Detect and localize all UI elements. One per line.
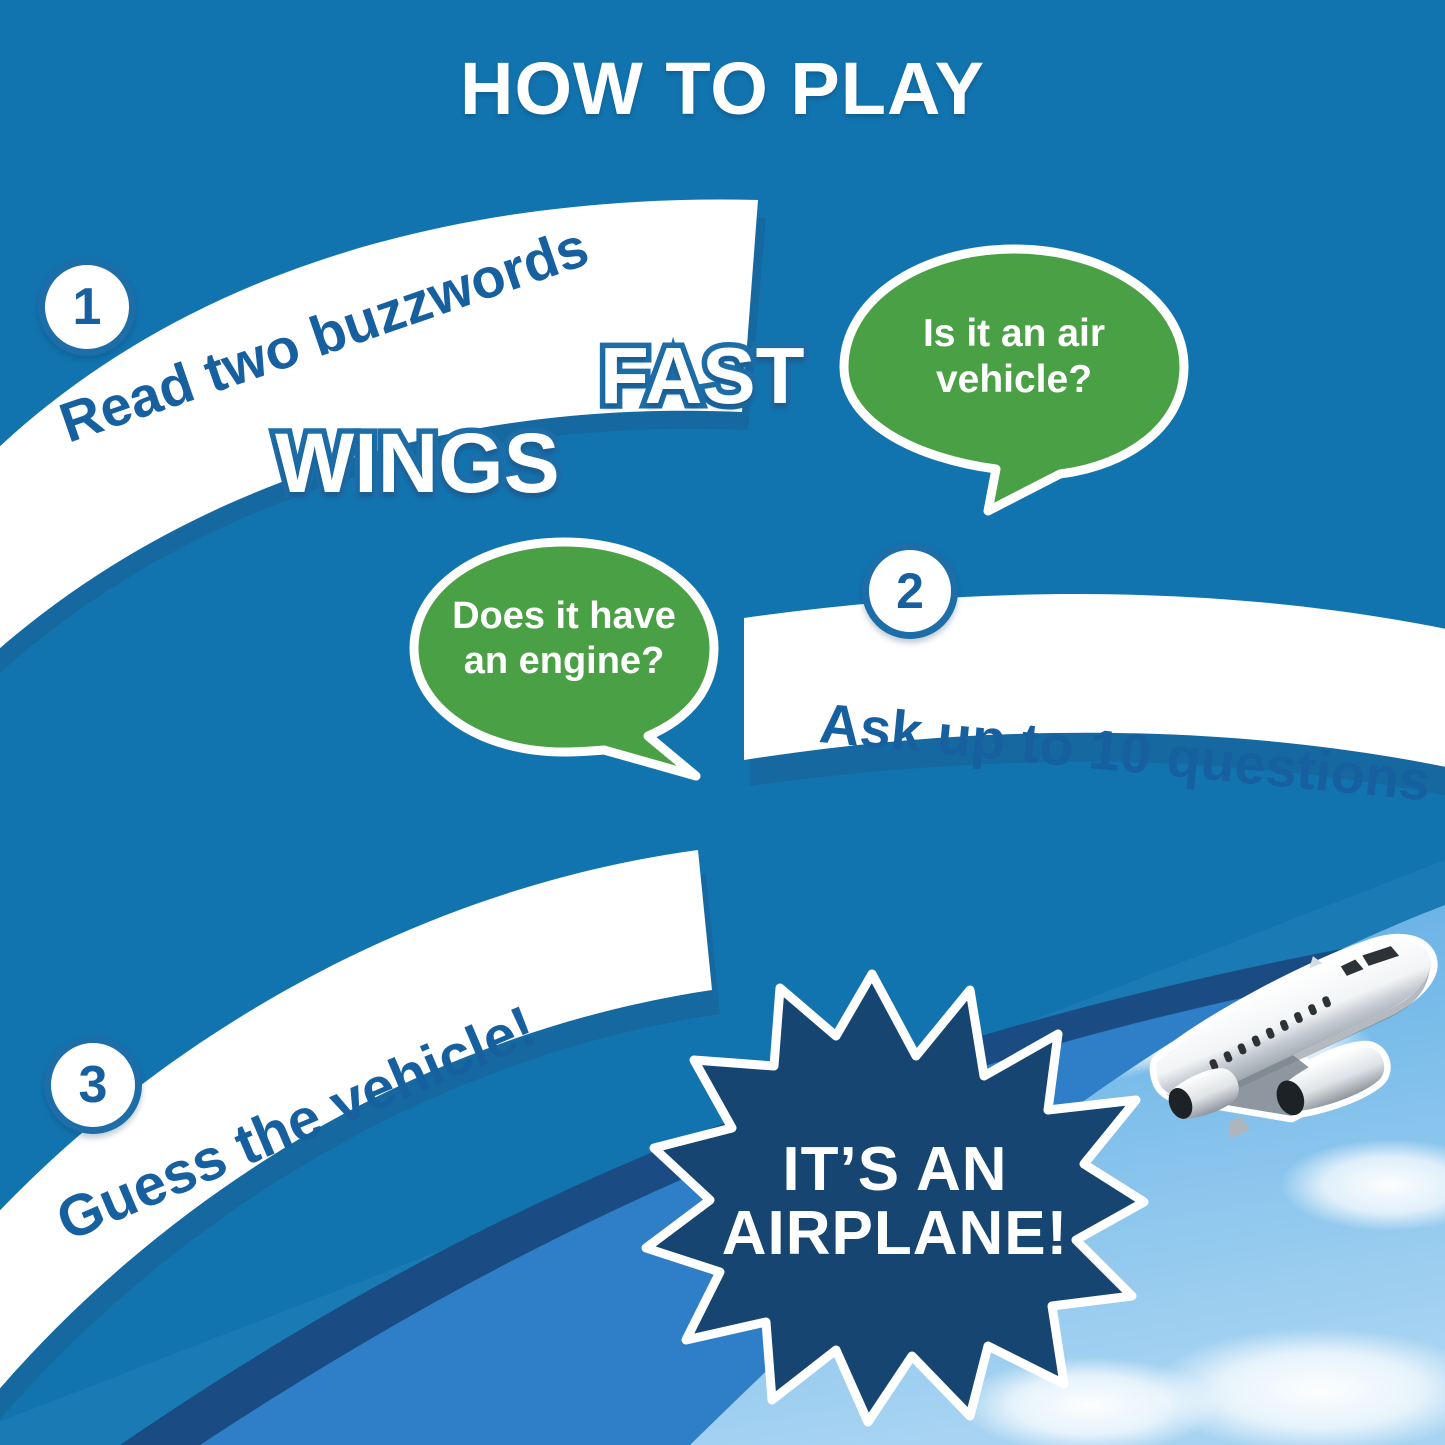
starburst-shape-icon [640, 960, 1150, 1430]
buzzword-fast: FAST [600, 330, 804, 422]
speech-bubble-shape-icon [838, 243, 1190, 517]
answer-starburst: IT’S AN AIRPLANE! [640, 960, 1150, 1430]
step-1-number: 1 [38, 258, 136, 356]
step-3-number: 3 [44, 1036, 142, 1134]
step-2-number: 2 [862, 543, 958, 639]
speech-bubble-air-vehicle: Is it an air vehicle? [838, 243, 1190, 517]
page-title: HOW TO PLAY [0, 52, 1445, 126]
speech-bubble-engine: Does it have an engine? [408, 536, 720, 782]
buzzword-wings: WINGS [275, 415, 560, 512]
speech-bubble-shape-icon [408, 536, 720, 782]
how-to-play-infographic: HOW TO PLAY 1 Read two buzzwords FAST WI… [0, 0, 1445, 1445]
